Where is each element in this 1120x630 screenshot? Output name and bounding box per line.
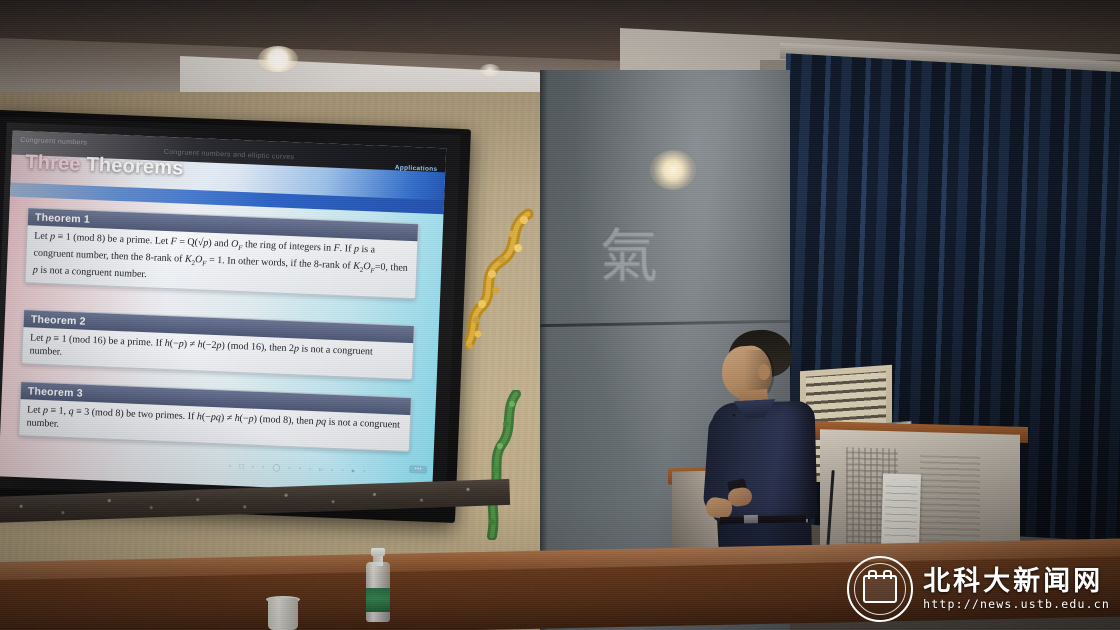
paper-cup[interactable] <box>268 598 298 630</box>
seal-emblem <box>863 575 897 603</box>
pillar-edge-shadow <box>540 70 548 630</box>
slide-title-word2: Theorems <box>80 153 184 179</box>
console-vent-grille <box>920 451 980 549</box>
lecture-hall-photo: 氣 Congruent numbers Congruent numbers an… <box>0 0 1120 630</box>
bottle-label <box>366 588 390 612</box>
ceiling-downlight-icon <box>258 46 298 72</box>
gold-tinsel-garland <box>466 208 540 388</box>
screen-frame: Congruent numbers Congruent numbers and … <box>0 110 471 523</box>
slide-footer-logo: ••• <box>409 465 427 474</box>
watermark-text: 北科大新闻网 http://news.ustb.edu.cn <box>923 568 1110 611</box>
theorem-box: Theorem 2 Let p ≡ 1 (mod 16) be a prime.… <box>21 309 415 380</box>
slide-navigation-dots: ◦ □ ◦ ◦ ◯ ◦ ◦ ◦ ▹ ◦ ◦ ▸ ◦ <box>229 462 369 476</box>
ustb-seal-icon <box>847 556 913 622</box>
water-bottle[interactable] <box>366 548 390 622</box>
ceiling-downlight-icon <box>480 64 500 76</box>
screen-surface: Congruent numbers Congruent numbers and … <box>0 116 461 507</box>
green-tinsel-garland <box>486 390 528 540</box>
pendant-light-icon <box>650 150 696 190</box>
bottle-cap <box>371 548 385 556</box>
news-watermark: 北科大新闻网 http://news.ustb.edu.cn <box>847 556 1110 622</box>
presenter-ear <box>758 364 770 380</box>
slide-title-word1: Three <box>25 151 81 175</box>
theorem-box: Theorem 3 Let p ≡ 1, q ≡ 3 (mod 8) be tw… <box>18 381 412 452</box>
watermark-url: http://news.ustb.edu.cn <box>923 597 1110 611</box>
watermark-chinese: 北科大新闻网 <box>923 568 1110 595</box>
projection-screen: Congruent numbers Congruent numbers and … <box>0 96 474 515</box>
presentation-slide: Congruent numbers Congruent numbers and … <box>0 131 446 495</box>
posted-note-writing <box>884 480 918 543</box>
theorem-box: Theorem 1 Let p ≡ 1 (mod 8) be a prime. … <box>24 207 419 299</box>
